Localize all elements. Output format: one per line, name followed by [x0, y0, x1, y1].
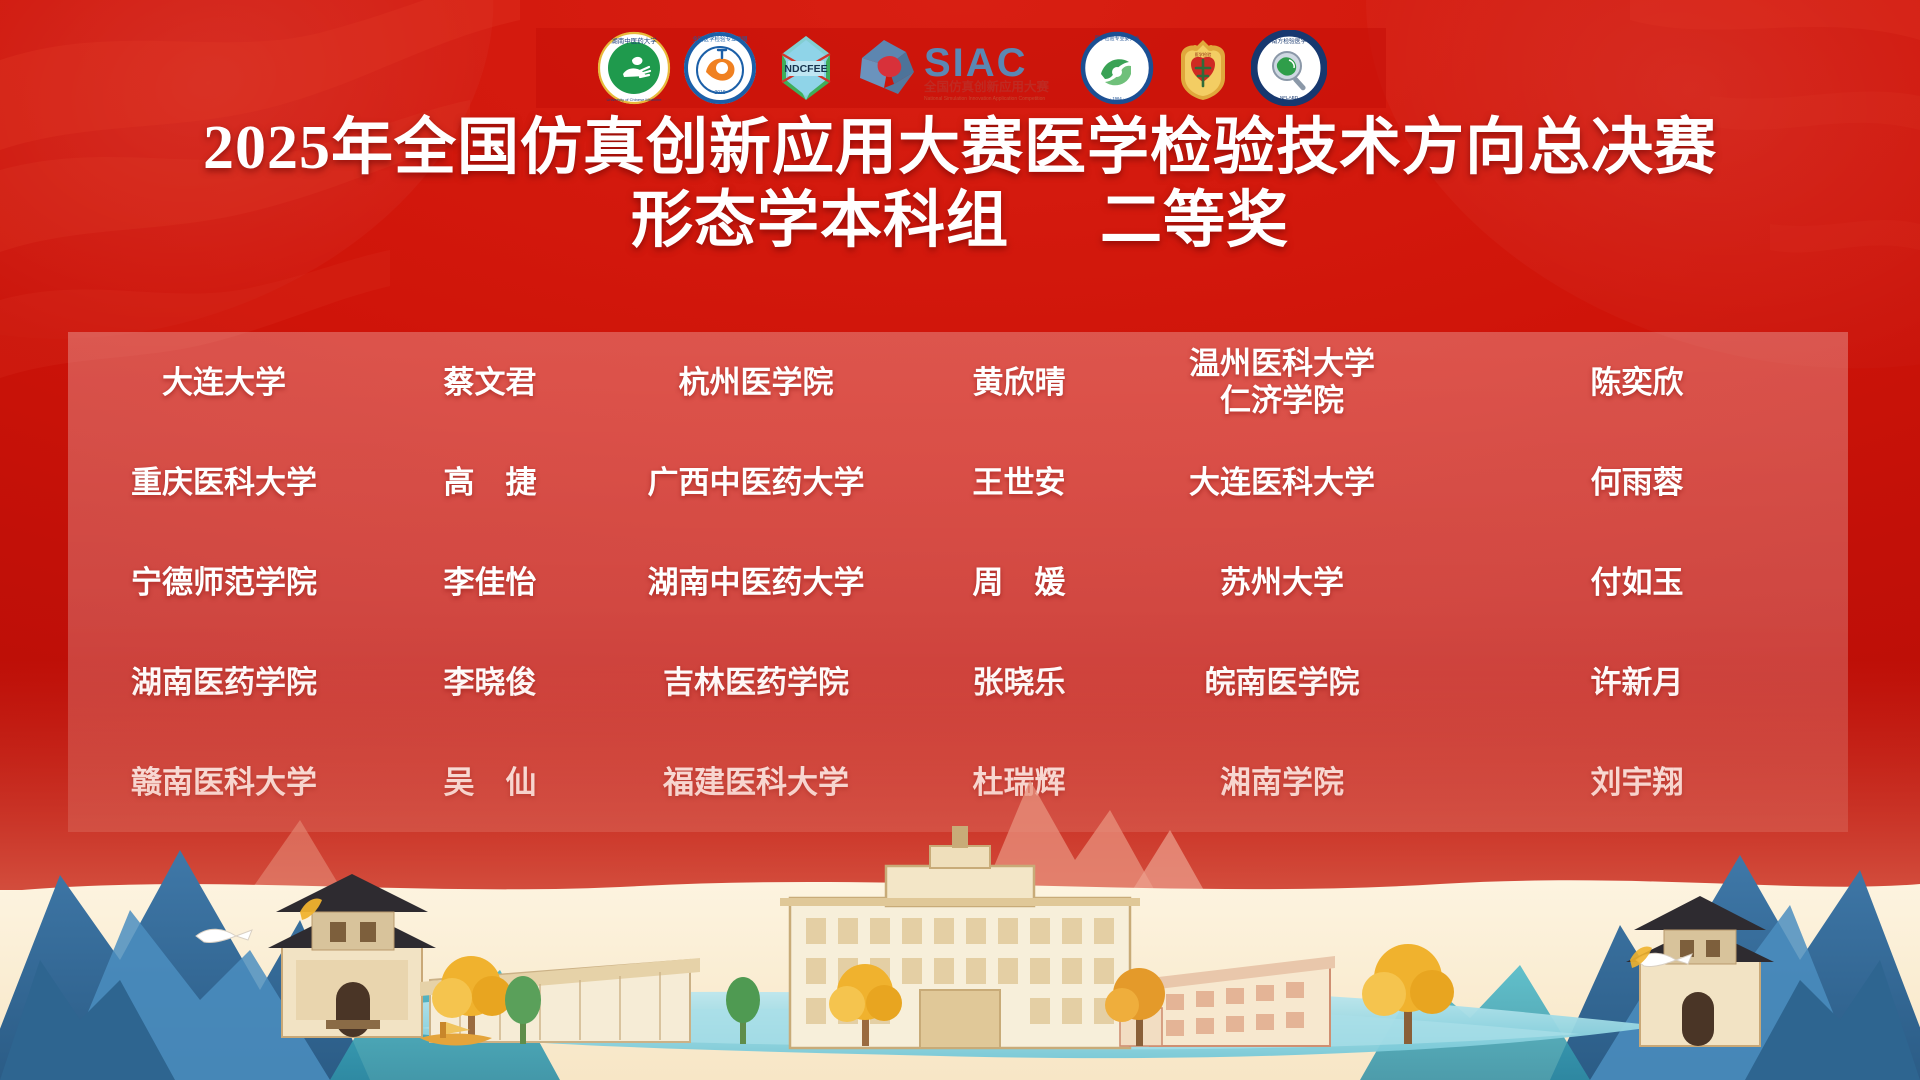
svg-text:医学检验: 医学检验 [1194, 51, 1212, 58]
organizer-logo-strip: 湖南中医药大学 University of Chinese Medicine 全… [536, 28, 1386, 108]
winner-name-cell: 蔡文君 [374, 364, 606, 401]
chinese-alliance-of-laboratory-medicine-logo: 全国医学检验专业联盟 2018 [682, 30, 758, 106]
school-cell: 苏州大学 [1132, 564, 1432, 601]
nflabd-logo: 南方检验医学 NFLABD [1251, 30, 1327, 106]
school-cell: 大连大学 [74, 364, 374, 401]
winner-name-cell: 王世安 [906, 464, 1132, 501]
title-line-2: 形态学本科组 二等奖 [0, 184, 1920, 258]
svg-text:· 1964 ·: · 1964 · [1109, 96, 1123, 101]
winner-name-cell: 周 媛 [906, 564, 1132, 601]
table-row: 重庆医科大学高 捷广西中医药大学王世安大连医科大学何雨蓉 [68, 432, 1848, 532]
siac-logo: SIAC 全国仿真创新应用大赛 National Simulation Inno… [854, 32, 1069, 104]
svg-text:SIAC: SIAC [924, 41, 1028, 85]
title-line-1: 2025年全国仿真创新应用大赛医学检验技术方向总决赛 [0, 112, 1920, 184]
hunan-university-of-chinese-medicine-logo: 湖南中医药大学 University of Chinese Medicine [596, 30, 672, 106]
svg-text:医学检验专业委员会: 医学检验专业委员会 [1094, 35, 1139, 42]
ndcfee-logo: NDCFEE [768, 30, 844, 106]
svg-text:2018: 2018 [714, 90, 725, 96]
chinese-landscape-illustration [0, 660, 1920, 1080]
svg-text:NDCFEE: NDCFEE [784, 63, 827, 75]
crest-emblem-logo: 医学检验 [1165, 30, 1241, 106]
winner-name-cell: 何雨蓉 [1432, 464, 1842, 501]
table-row: 大连大学蔡文君杭州医学院黄欣晴温州医科大学 仁济学院陈奕欣 [68, 332, 1848, 432]
title-award-label: 二等奖 [1100, 187, 1289, 255]
school-cell: 温州医科大学 仁济学院 [1132, 345, 1432, 419]
school-cell: 杭州医学院 [606, 364, 906, 401]
school-cell: 广西中医药大学 [606, 464, 906, 501]
svg-text:University of Chinese Medicine: University of Chinese Medicine [606, 97, 662, 102]
svg-text:全国医学检验专业联盟: 全国医学检验专业联盟 [692, 35, 748, 43]
school-cell: 重庆医科大学 [74, 464, 374, 501]
winner-name-cell: 付如玉 [1432, 564, 1842, 601]
school-cell: 大连医科大学 [1132, 464, 1432, 501]
winner-name-cell: 黄欣晴 [906, 364, 1132, 401]
winner-name-cell: 高 捷 [374, 464, 606, 501]
title-block: 2025年全国仿真创新应用大赛医学检验技术方向总决赛 形态学本科组 二等奖 [0, 112, 1920, 258]
winner-name-cell: 陈奕欣 [1432, 364, 1842, 401]
school-cell: 宁德师范学院 [74, 564, 374, 601]
award-announcement-board: 湖南中医药大学 University of Chinese Medicine 全… [0, 0, 1920, 1080]
laboratory-medicine-committee-logo: 医学检验专业委员会 · 1964 · [1079, 30, 1155, 106]
svg-text:全国仿真创新应用大赛: 全国仿真创新应用大赛 [923, 79, 1050, 94]
table-row: 宁德师范学院李佳怡湖南中医药大学周 媛苏州大学付如玉 [68, 532, 1848, 632]
svg-text:湖南中医药大学: 湖南中医药大学 [611, 36, 657, 45]
svg-text:National Simulation Innovation: National Simulation Innovation Applicati… [924, 96, 1045, 102]
svg-text:NFLABD: NFLABD [1279, 95, 1298, 100]
school-cell: 湖南中医药大学 [606, 564, 906, 601]
svg-text:南方检验医学: 南方检验医学 [1271, 37, 1306, 45]
winner-name-cell: 李佳怡 [374, 564, 606, 601]
title-group-label: 形态学本科组 [631, 187, 1009, 255]
